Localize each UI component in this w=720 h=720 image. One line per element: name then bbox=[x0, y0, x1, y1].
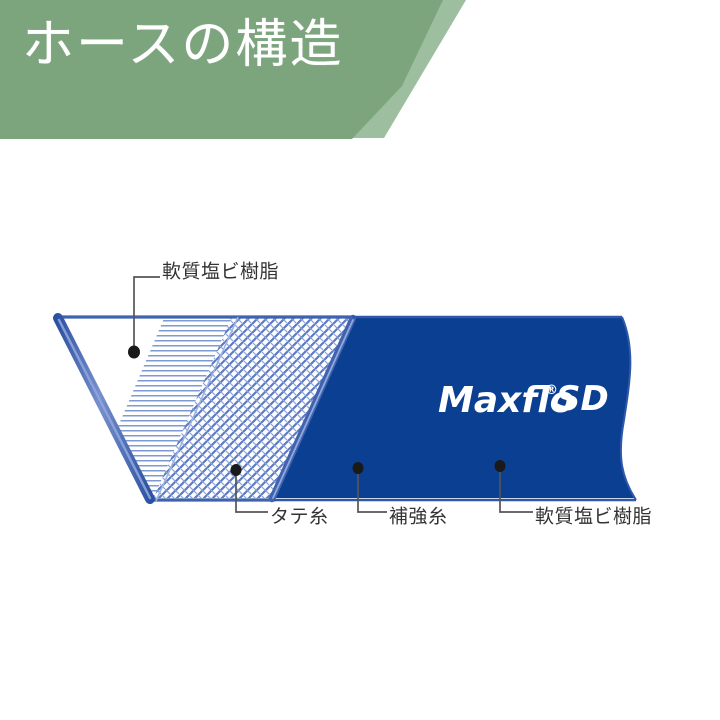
callout-dot-inner-pvc bbox=[128, 346, 140, 359]
product-logo: Maxflo ® SD bbox=[438, 379, 609, 421]
hose-cutaway-diagram: Maxflo ® SD bbox=[0, 0, 720, 720]
callout-dot-hokyo-ito bbox=[353, 462, 364, 474]
callout-label-inner-pvc: 軟質塩ビ樹脂 bbox=[162, 263, 279, 282]
callout-label-hokyo-ito: 補強糸 bbox=[389, 508, 448, 527]
illustration-canvas: ホースの構造 bbox=[0, 0, 720, 720]
callout-dot-tate-ito bbox=[231, 464, 242, 476]
callout-dot-outer-pvc bbox=[495, 460, 506, 472]
callout-label-outer-pvc: 軟質塩ビ樹脂 bbox=[535, 508, 652, 527]
product-logo-suffix: SD bbox=[556, 379, 609, 419]
callout-label-tate-ito: タテ糸 bbox=[270, 508, 329, 527]
